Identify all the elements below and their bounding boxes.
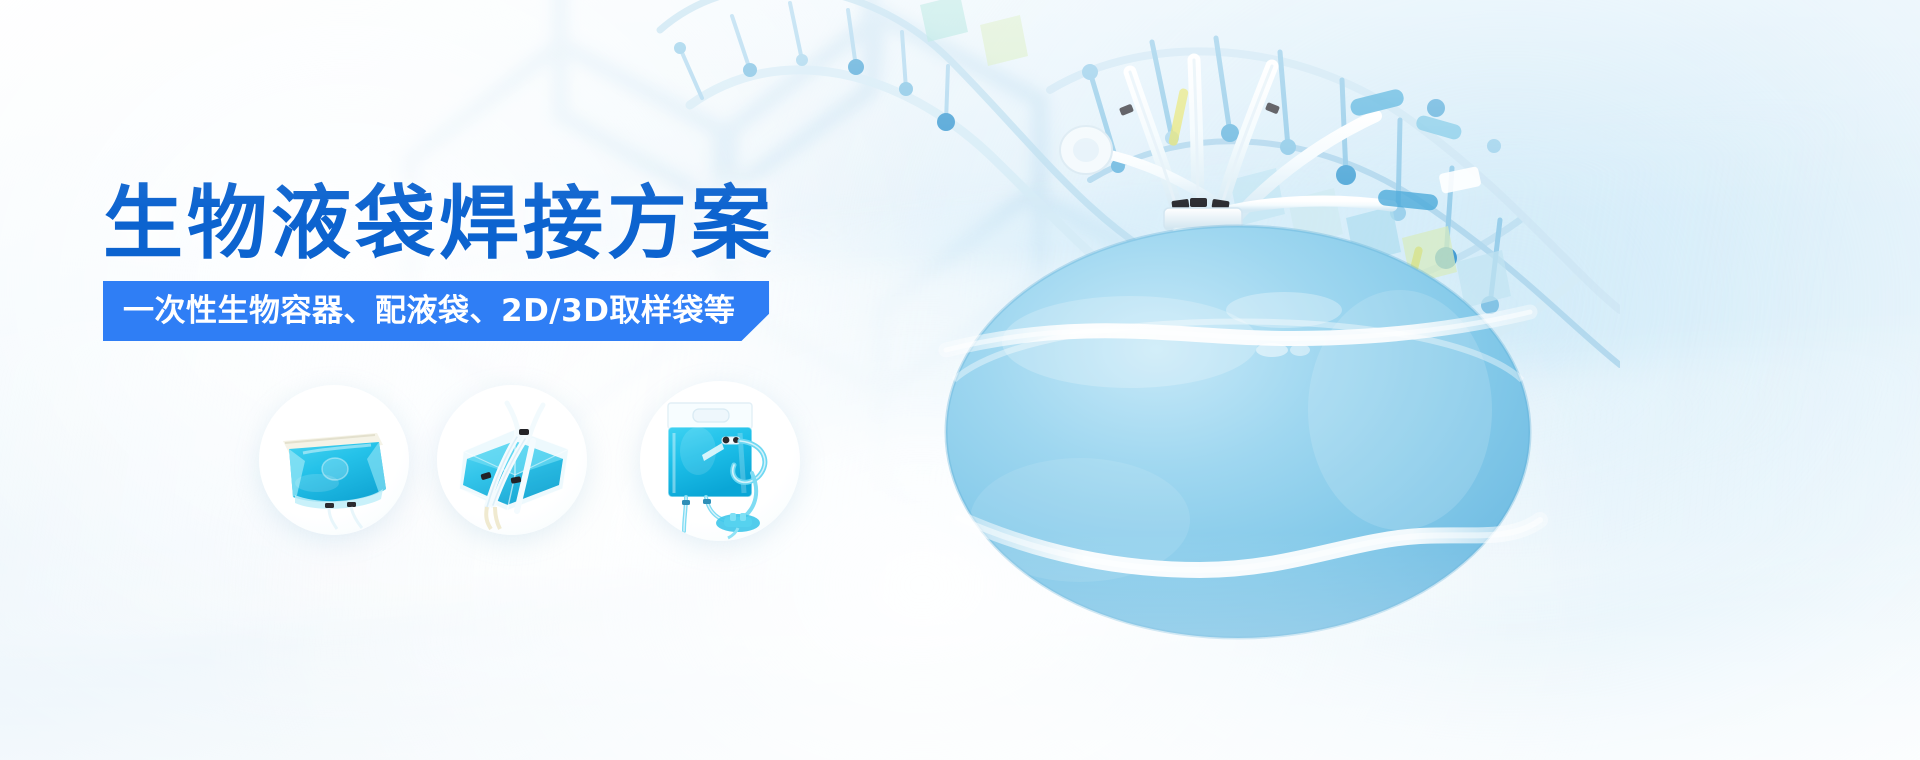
hero-banner: 生物液袋焊接方案 一次性生物容器、配液袋、2D/3D取样袋等 (0, 0, 1920, 760)
background-vignette (0, 0, 1920, 760)
